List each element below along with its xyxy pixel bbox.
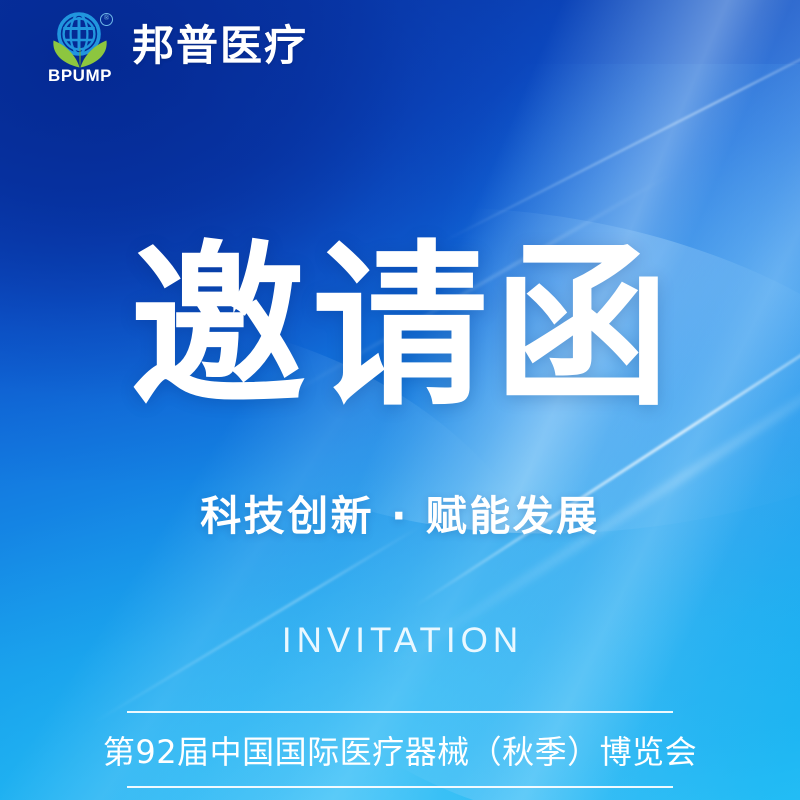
two-leaves-icon [50, 36, 110, 68]
brand-header: ® BPUMP 邦普医疗 [44, 10, 308, 88]
logo-wordmark: BPUMP [44, 66, 116, 86]
tagline: 科技创新 · 赋能发展 [200, 482, 600, 542]
invitation-poster: ® BPUMP 邦普医疗 邀请函 科技创新 · 赋能发展 INVITATION … [0, 0, 800, 800]
event-name: 第92届中国国际医疗器械（秋季）博览会 [103, 713, 697, 786]
event-footer: 第92届中国国际医疗器械（秋季）博览会 [0, 711, 800, 800]
registered-trademark-icon: ® [100, 13, 113, 26]
invitation-english-label: INVITATION [277, 621, 523, 661]
poster-content: 邀请函 科技创新 · 赋能发展 INVITATION 第92届中国国际医疗器械（… [0, 0, 800, 800]
brand-name-chinese: 邦普医疗 [132, 25, 308, 73]
company-logo[interactable]: ® BPUMP [44, 10, 116, 88]
footer-rule-bottom [127, 786, 673, 788]
page-title: 邀请函 [124, 240, 676, 416]
